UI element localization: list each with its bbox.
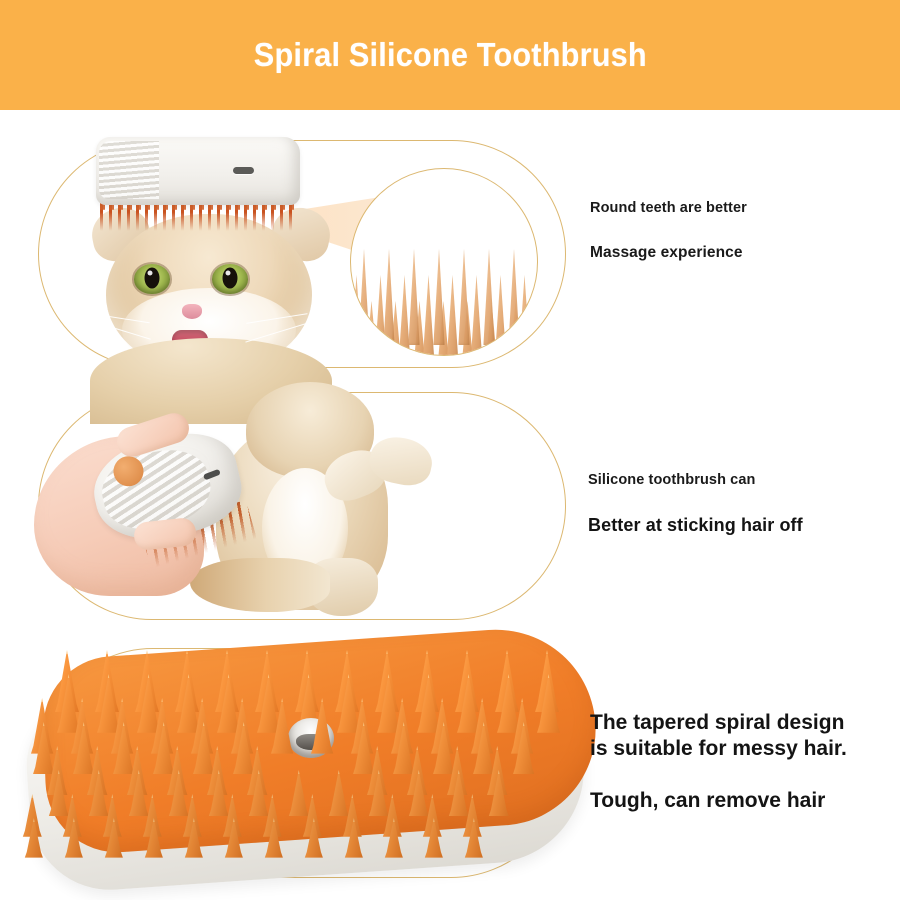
bristle-cone	[532, 249, 538, 345]
feature-panel-2	[38, 392, 566, 620]
cat-eye-left	[134, 264, 170, 294]
cat-eye-right	[212, 264, 248, 294]
panel-1-image	[38, 140, 566, 368]
cat-pupil-right	[223, 268, 238, 289]
brush-head-closeup	[20, 624, 610, 886]
feature-panel-3	[38, 648, 566, 878]
feature-panel-1	[38, 140, 566, 368]
steam-brush-device	[96, 137, 300, 205]
cat-tail	[190, 558, 330, 612]
cat-pupil-left	[145, 268, 160, 289]
panel-2-image	[38, 392, 566, 620]
panel-3-line-3: Tough, can remove hair	[590, 788, 847, 814]
panel-3-line-1: The tapered spiral design	[590, 710, 847, 736]
panel-2-line-2: Better at sticking hair off	[588, 513, 803, 537]
panel-1-line-1: Round teeth are better	[590, 198, 747, 219]
page-title: Spiral Silicone Toothbrush	[253, 36, 646, 74]
header-banner: Spiral Silicone Toothbrush	[0, 0, 900, 110]
magnified-bristles	[350, 205, 538, 356]
panel-3-image	[38, 648, 566, 878]
magnifier-circle	[350, 168, 538, 356]
cat-nose	[182, 304, 202, 319]
panel-1-line-2: Massage experience	[590, 242, 747, 264]
panel-2-text: Silicone toothbrush can Better at sticki…	[588, 470, 803, 537]
panel-3-text: The tapered spiral design is suitable fo…	[590, 710, 847, 814]
bristle-cone	[507, 249, 521, 345]
device-grip-ribs	[99, 141, 159, 199]
panel-2-line-1: Silicone toothbrush can	[588, 470, 803, 491]
usb-port-icon	[233, 167, 254, 174]
panel-1-text: Round teeth are better Massage experienc…	[590, 198, 747, 264]
panel-3-line-2: is suitable for messy hair.	[590, 736, 847, 762]
